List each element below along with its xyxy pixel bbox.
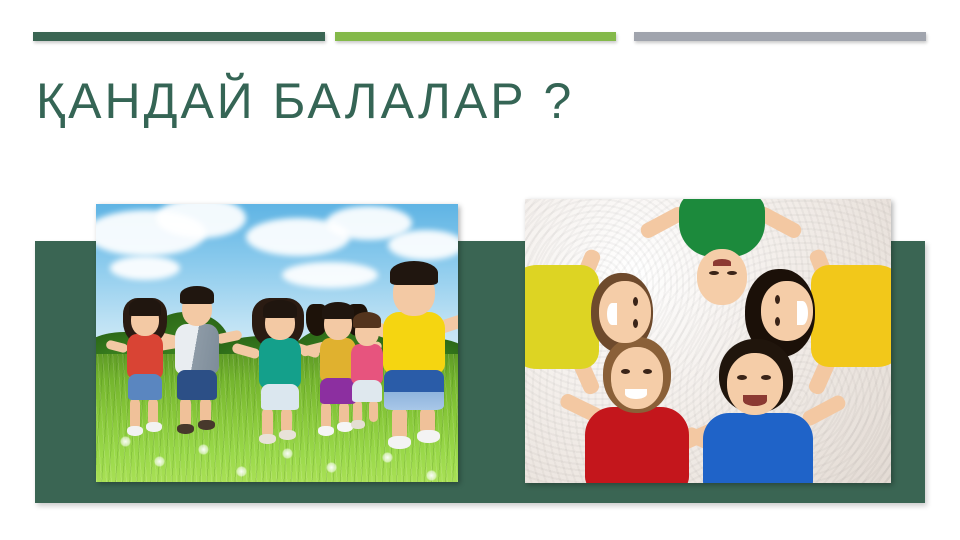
eye <box>643 369 652 374</box>
accent-bar-gray <box>634 32 926 41</box>
eye <box>761 375 771 380</box>
shirt <box>383 312 445 374</box>
shirt <box>127 334 163 378</box>
head <box>611 347 663 409</box>
accent-bar-dark-green <box>33 32 325 41</box>
shirt <box>703 413 813 483</box>
hair <box>263 300 297 318</box>
mouth <box>625 389 647 399</box>
shirt <box>175 324 219 374</box>
shorts <box>128 374 162 400</box>
cloud-icon <box>110 256 180 280</box>
eye <box>709 271 719 275</box>
dandelion <box>382 452 393 463</box>
eye <box>621 369 630 374</box>
eye <box>633 319 638 328</box>
shirt <box>259 338 301 388</box>
hair <box>129 298 161 316</box>
presentation-slide: ҚАНДАЙ БАЛАЛАР ? <box>0 0 960 540</box>
photo-children-circle-rug <box>525 199 891 483</box>
eye <box>727 271 737 275</box>
eye <box>775 295 780 304</box>
shoe <box>127 426 143 436</box>
shoe <box>146 422 162 432</box>
hair <box>353 312 381 328</box>
shorts <box>177 370 217 400</box>
head <box>697 249 747 305</box>
photo-canvas-right <box>525 199 891 483</box>
shoe <box>388 436 411 449</box>
eye <box>737 375 747 380</box>
hair <box>390 261 438 285</box>
dandelion <box>236 466 247 477</box>
photo-children-running-field <box>96 204 458 482</box>
hair <box>180 286 214 304</box>
shirt <box>351 344 383 384</box>
shoe <box>318 426 334 436</box>
dandelion <box>154 456 165 467</box>
mouth <box>743 395 767 406</box>
shoe <box>198 420 215 430</box>
shoe <box>417 430 440 443</box>
cloud-icon <box>388 230 458 260</box>
shorts <box>384 370 444 410</box>
shirt <box>811 265 891 367</box>
cloud-icon <box>282 262 378 288</box>
shirt <box>585 407 689 483</box>
dandelion <box>282 448 293 459</box>
child-figure <box>162 282 232 434</box>
shorts <box>352 380 382 402</box>
eye <box>775 317 780 326</box>
shoe <box>259 434 276 444</box>
hair <box>322 302 354 319</box>
dandelion <box>120 436 131 447</box>
skirt <box>320 378 356 404</box>
mouth <box>713 259 731 266</box>
leg <box>369 400 378 422</box>
accent-bar-light-green <box>335 32 616 41</box>
mouth <box>607 303 617 325</box>
dandelion <box>326 462 337 473</box>
eye <box>633 297 638 306</box>
dandelion <box>426 470 437 481</box>
dandelion <box>198 444 209 455</box>
slide-title: ҚАНДАЙ БАЛАЛАР ? <box>36 66 916 136</box>
mouth <box>797 301 808 325</box>
shoe <box>351 420 365 429</box>
shorts <box>261 384 299 410</box>
shoe <box>279 430 296 440</box>
photo-canvas-left <box>96 204 458 482</box>
shoe <box>177 424 194 434</box>
shirt <box>525 265 599 369</box>
